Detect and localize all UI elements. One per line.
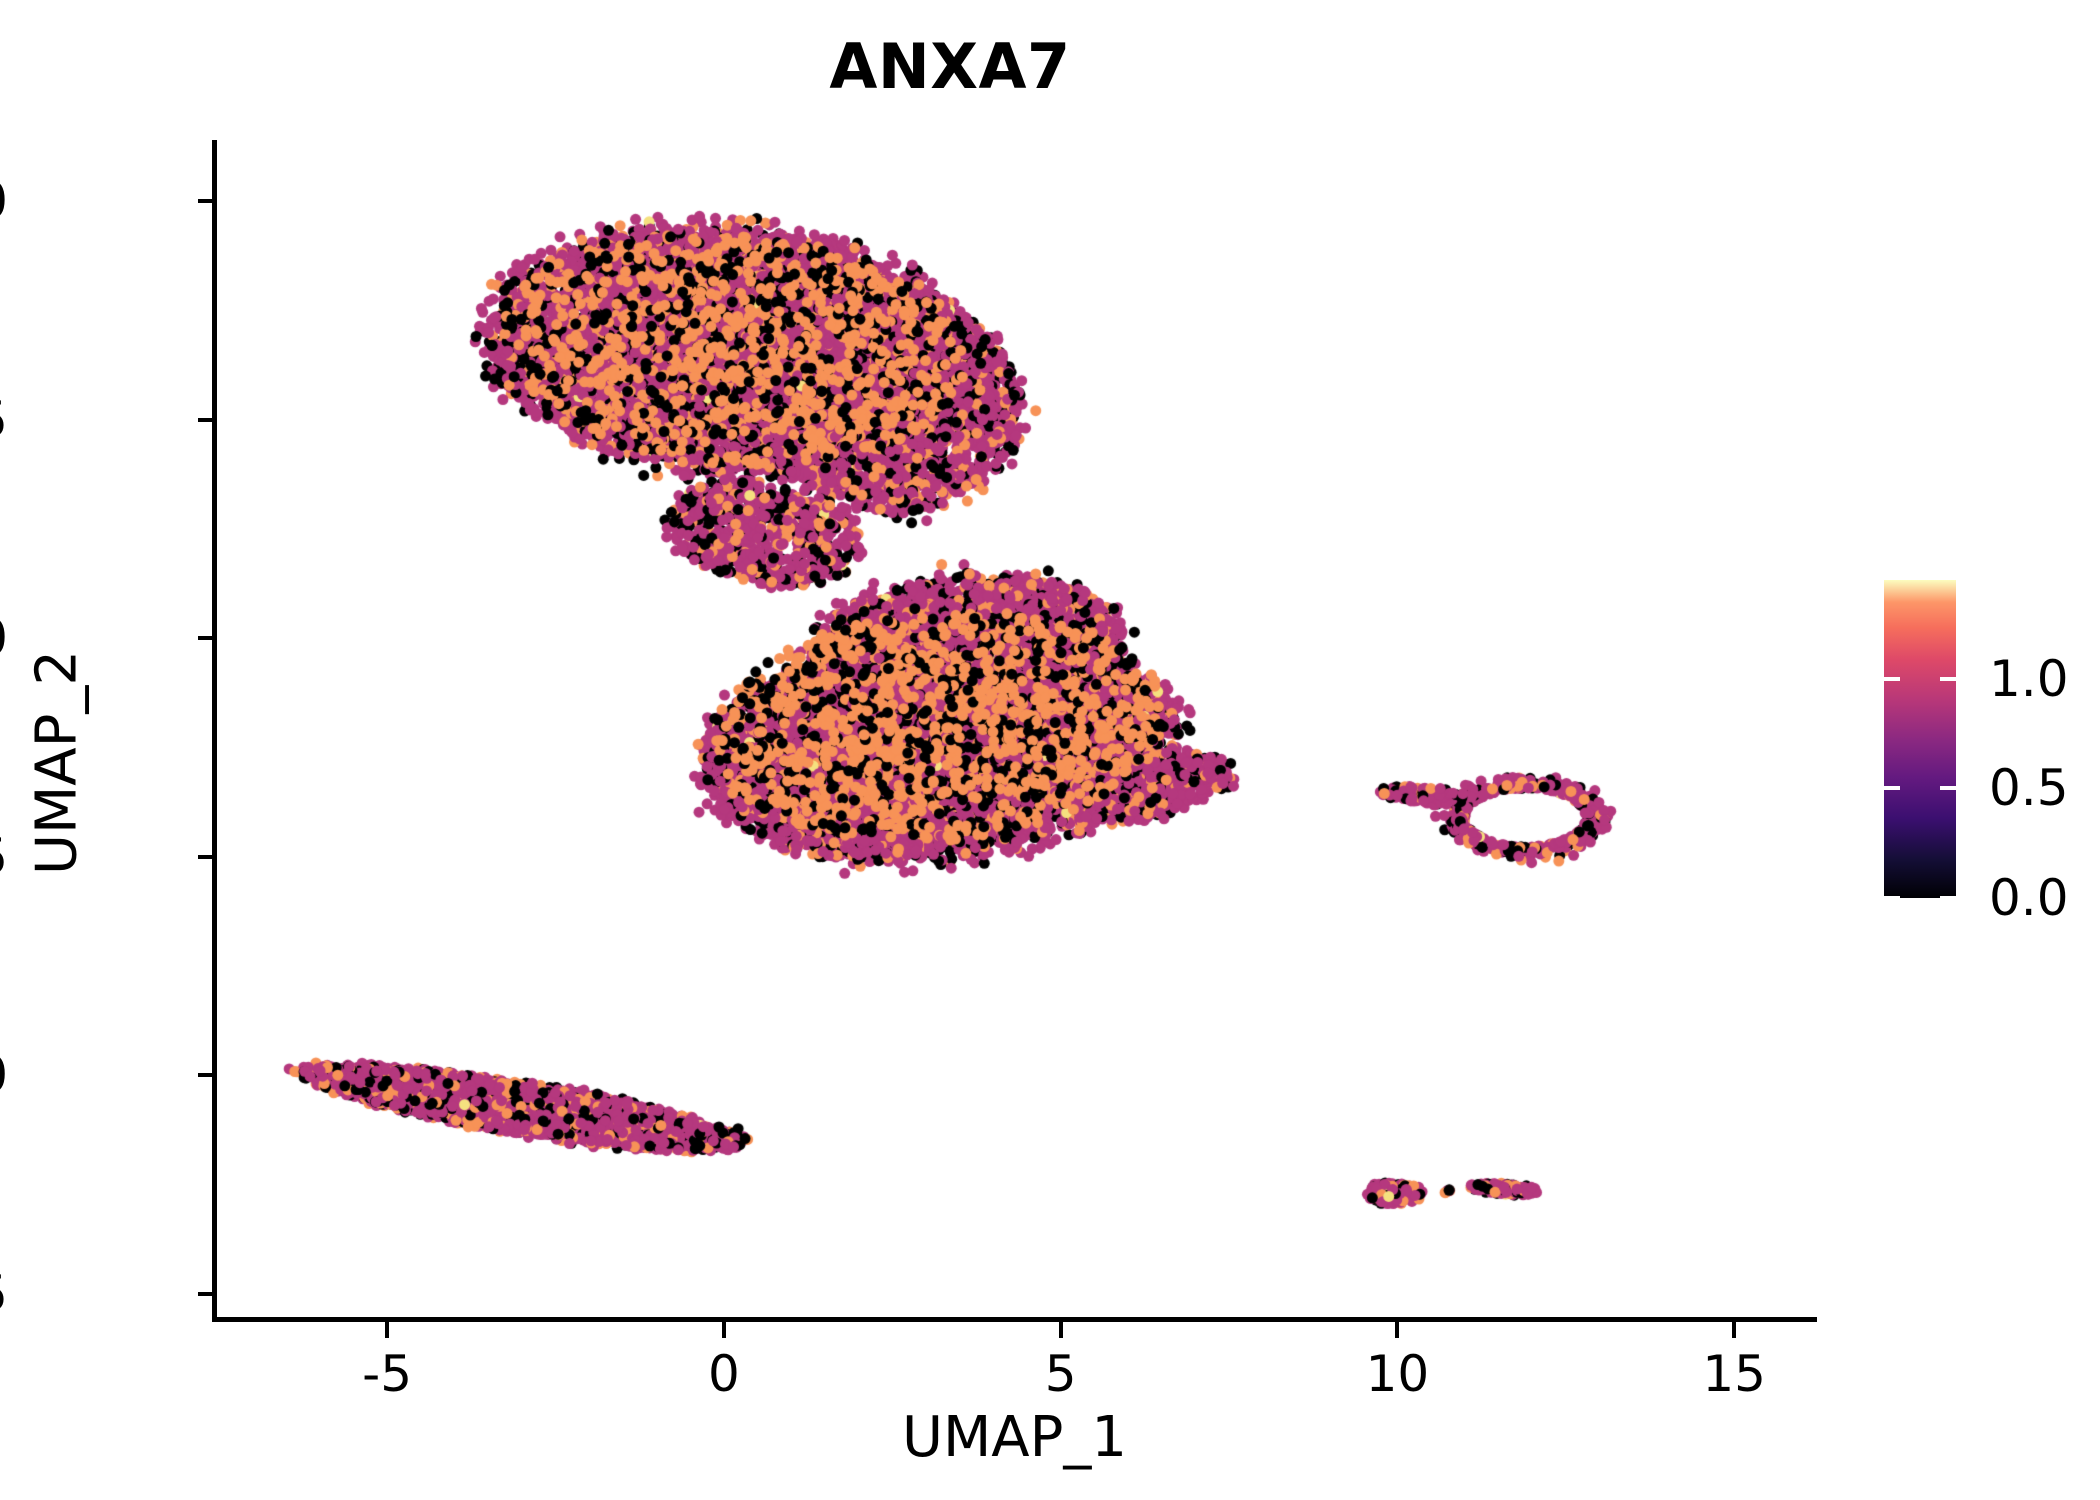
y-tick-label: 0 [0, 1046, 8, 1104]
scatter-plot-canvas [212, 140, 1815, 1320]
colorbar-tick-mark [1940, 677, 1956, 681]
y-tick-mark [198, 418, 212, 422]
y-tick-mark [198, 1073, 212, 1077]
x-axis-spine [212, 1317, 1817, 1322]
colorbar-tick-label: 0.5 [1989, 759, 2069, 817]
colorbar-tick-mark [1884, 677, 1900, 681]
colorbar-tick-mark [1884, 786, 1900, 790]
page-title: ANXA7 [0, 30, 1900, 103]
plot-axes-area [212, 140, 1815, 1320]
colorbar-tick-label: 1.0 [1989, 650, 2069, 708]
y-tick-label: 20 [0, 172, 8, 230]
y-tick-label: 15 [0, 391, 8, 449]
y-tick-label: 10 [0, 609, 8, 667]
x-tick-mark [385, 1322, 389, 1338]
x-tick-mark [1732, 1322, 1736, 1338]
x-tick-label: 10 [1366, 1345, 1430, 1403]
colorbar-tick-mark [1940, 786, 1956, 790]
colorbar-tick-mark [1884, 896, 1900, 900]
x-tick-label: 15 [1702, 1345, 1766, 1403]
x-tick-label: 0 [708, 1345, 740, 1403]
y-tick-mark [198, 855, 212, 859]
x-tick-mark [722, 1322, 726, 1338]
x-axis-label: UMAP_1 [212, 1405, 1817, 1470]
x-tick-mark [1059, 1322, 1063, 1338]
colorbar-tick-mark [1940, 896, 1956, 900]
umap-feature-plot-figure: ANXA7 -505101520 -5051015 UMAP_2 UMAP_1 … [0, 0, 2100, 1500]
x-tick-label: 5 [1045, 1345, 1077, 1403]
x-tick-label: -5 [362, 1345, 412, 1403]
y-tick-mark [198, 199, 212, 203]
y-tick-label: -5 [0, 1265, 8, 1323]
y-tick-mark [198, 636, 212, 640]
y-tick-label: 5 [0, 828, 8, 886]
y-axis-label: UMAP_2 [25, 263, 90, 1263]
x-tick-mark [1395, 1322, 1399, 1338]
colorbar-tick-label: 0.0 [1989, 869, 2069, 927]
y-axis-spine [212, 140, 217, 1322]
colorbar: 0.00.51.0 [1884, 580, 2084, 900]
colorbar-gradient [1884, 580, 1956, 898]
y-tick-mark [198, 1292, 212, 1296]
